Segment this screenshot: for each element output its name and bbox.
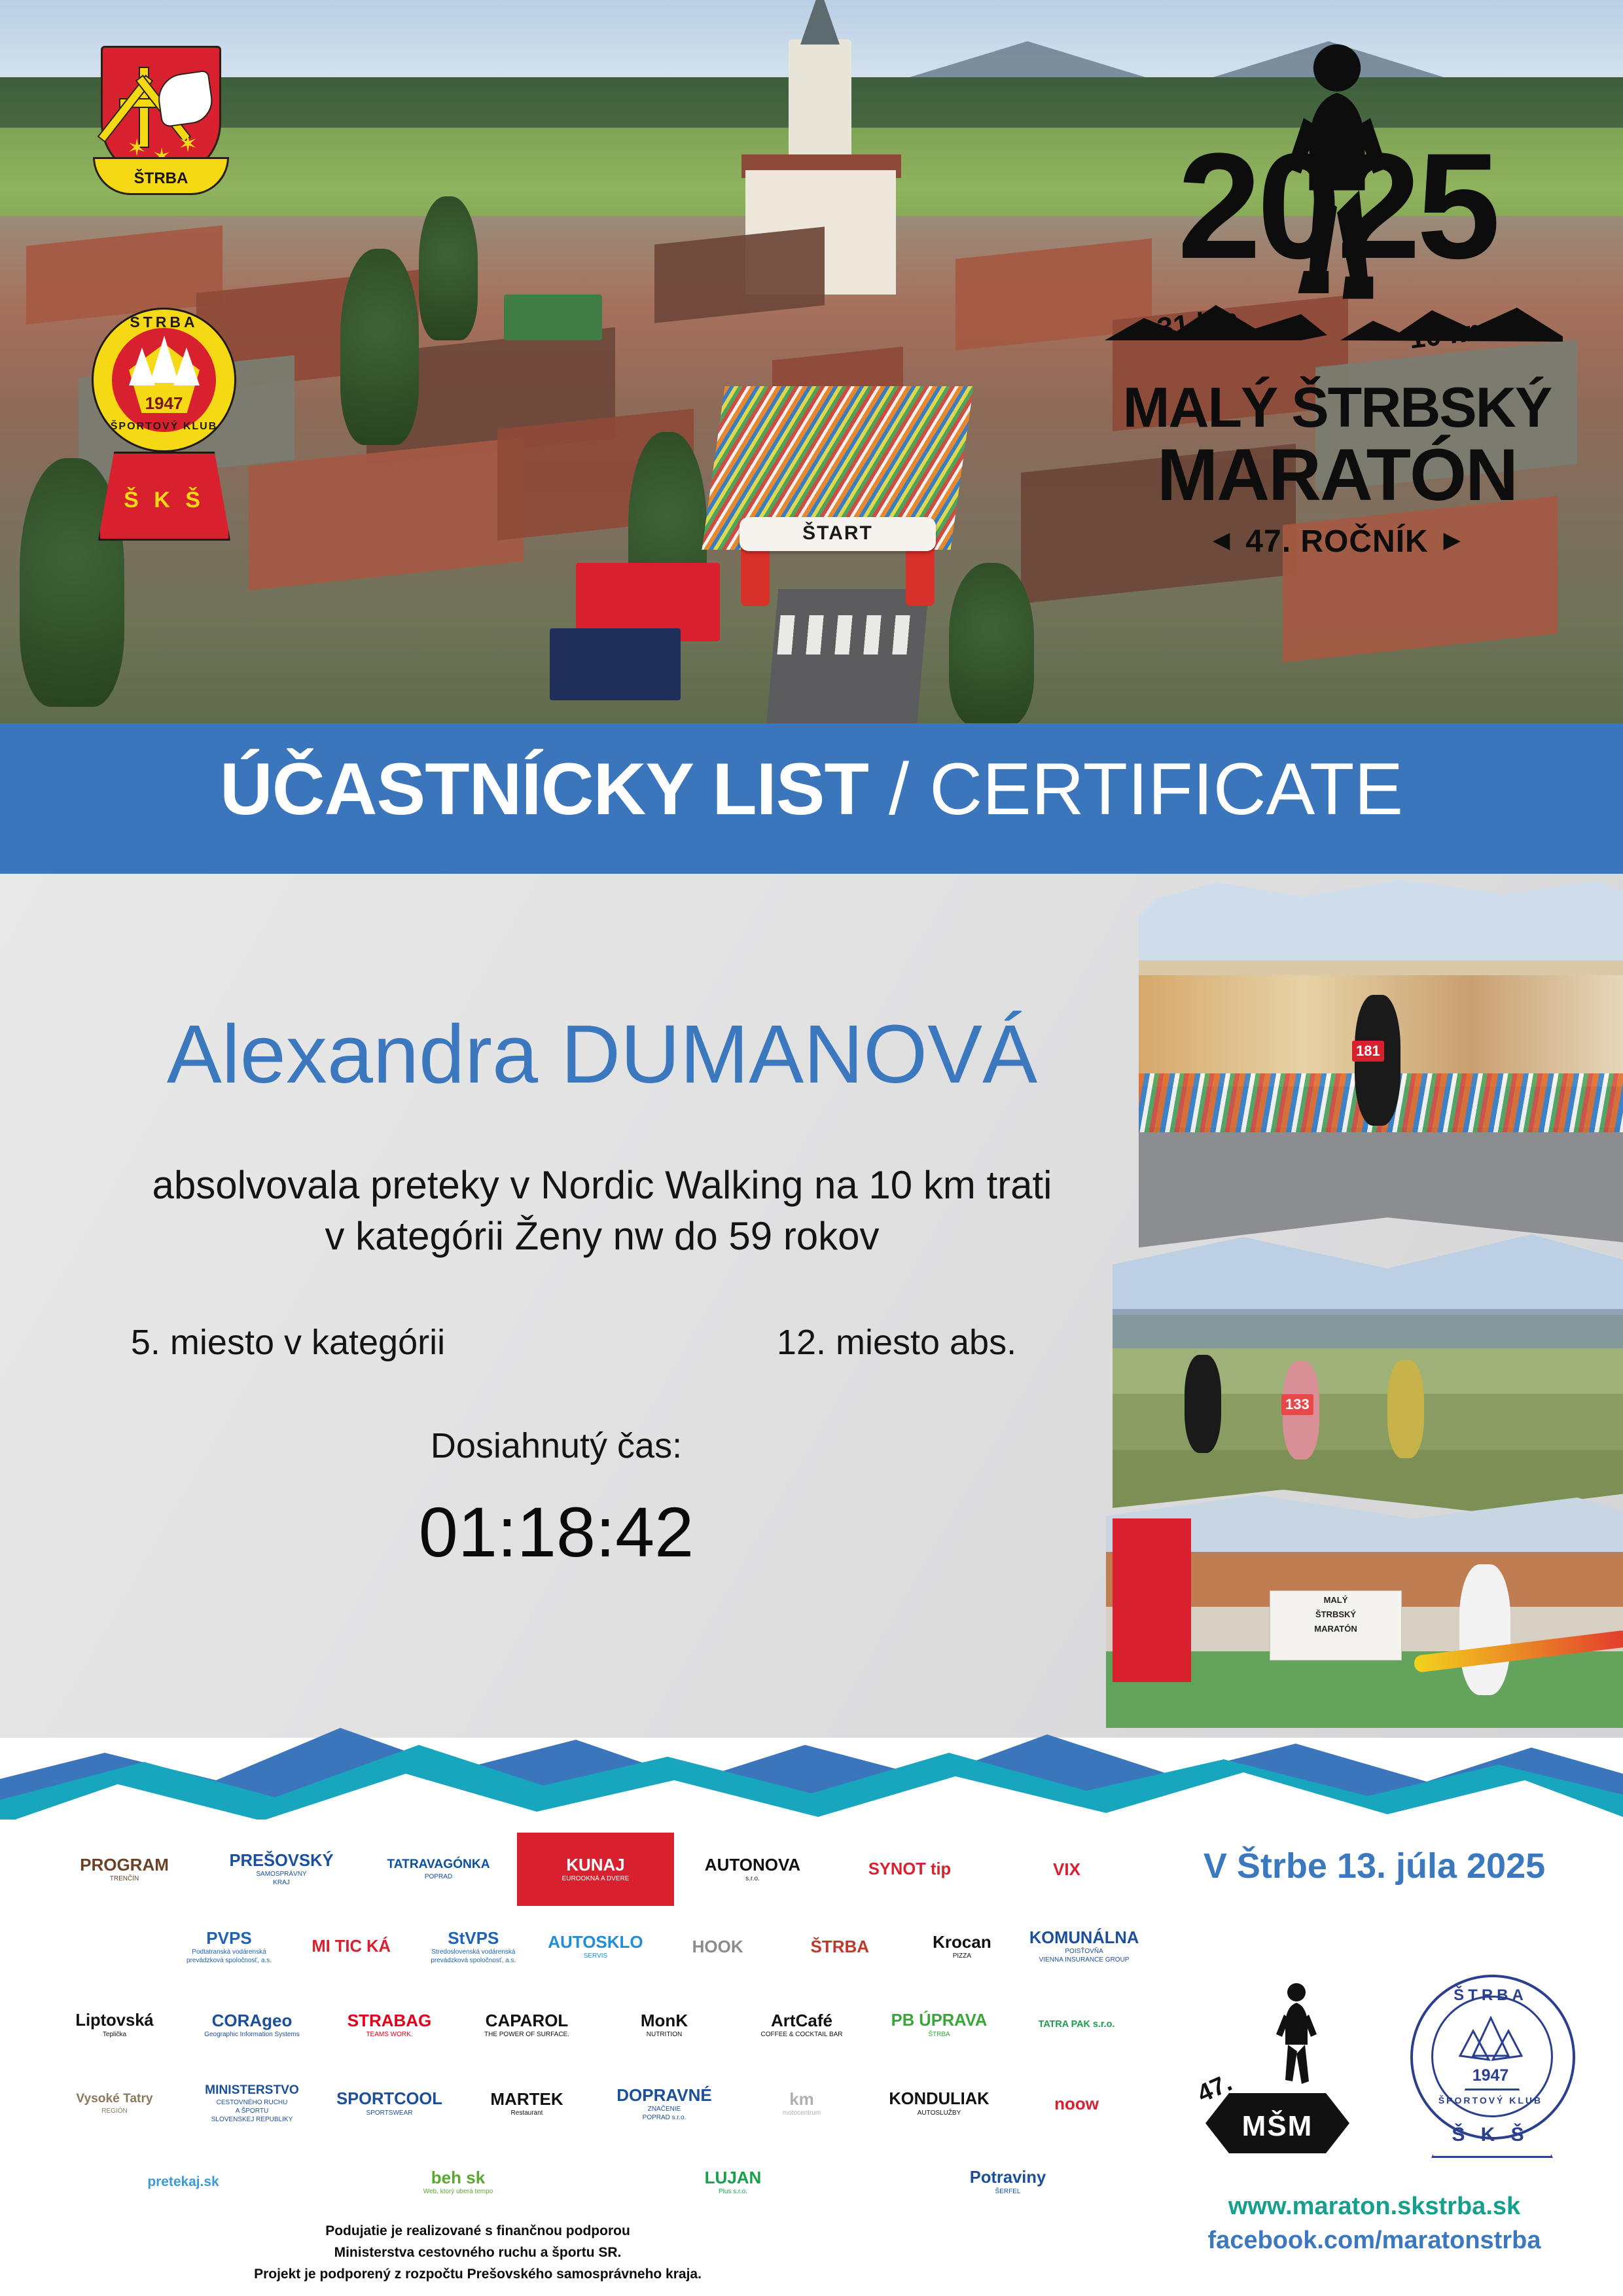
arrow-right-icon: ►	[1438, 524, 1467, 556]
sponsor-logo: AUTONOVAs.r.o.	[674, 1833, 831, 1906]
runner-figure	[1185, 1355, 1221, 1453]
sponsor-logo: PROGRAMTRENČÍN	[46, 1833, 203, 1906]
footer-right-column: V Štrbe 13. júla 2025 47. MŠM	[1158, 1826, 1590, 2284]
sponsor-name: ŠTRBA	[810, 1937, 869, 1956]
coa-ribbon: ŠTRBA	[93, 157, 229, 195]
inflatable-arch-leg	[1113, 1518, 1191, 1682]
start-arch: ŠTART	[740, 517, 936, 602]
sponsor-name: ArtCaféCOFFEE & COCKTAIL BAR	[760, 2011, 842, 2039]
race-bib: 181	[1352, 1041, 1384, 1062]
sponsor-logo: PREŠOVSKÝSAMOSPRÁVNYKRAJ	[203, 1833, 360, 1906]
sponsor-logo: kmmotocentrum	[733, 2067, 870, 2140]
photo-hill-runners: 133	[1113, 1230, 1623, 1512]
sponsor-name: MI TIC KÁ	[312, 1937, 391, 1956]
stamp-abbrev: Š K Š	[1397, 2124, 1584, 2146]
stamp-top-label: ŠTRBA	[1397, 1986, 1584, 2005]
edition-label: 47. ROČNÍK	[1245, 524, 1428, 559]
sponsor-logo: MonKNUTRITION	[596, 1988, 733, 2062]
sponsor-row: pretekaj.skbeh skWeb, ktorý uberá tempoL…	[46, 2145, 1145, 2219]
crosswalk	[777, 615, 918, 655]
mountain-peak-icon	[1455, 2015, 1527, 2072]
banner-separator: /	[868, 748, 929, 830]
participant-name: Alexandra DUMANOVÁ	[59, 1007, 1145, 1102]
race-title-line1: MALÝ ŠTRBSKÝ	[1085, 380, 1589, 436]
runner-figure	[1459, 1564, 1510, 1695]
stamp-year: 1947	[1397, 2066, 1584, 2085]
sponsor-logo: KONDULIAKAUTOSLUŽBY	[870, 2067, 1008, 2140]
footer: PROGRAMTRENČÍNPREŠOVSKÝSAMOSPRÁVNYKRAJTA…	[0, 1820, 1623, 2296]
sponsor-name: VIX	[1053, 1860, 1080, 1879]
start-arch-label: ŠTART	[740, 522, 936, 545]
sponsor-name: Vysoké TatryREGIÓN	[76, 2092, 152, 2115]
website-link[interactable]: www.maraton.skstrba.sk	[1158, 2193, 1590, 2221]
facebook-link[interactable]: facebook.com/maratonstrba	[1158, 2227, 1590, 2255]
emblem-year: 1947	[94, 393, 234, 414]
sks-stamp: ŠTRBA 1947 ŠPORTOVÝ KLUB Š K Š	[1397, 1967, 1584, 2163]
race-road	[766, 589, 929, 723]
race-year: 2025	[1085, 144, 1589, 268]
church-spire	[800, 0, 840, 45]
sponsor-logo: MINISTERSTVOCESTOVNÉHO RUCHUA ŠPORTUSLOV…	[183, 2067, 321, 2140]
sponsor-name: DOPRAVNÉZNAČENIEPOPRAD s.r.o.	[616, 2086, 711, 2122]
sponsor-name: StVPSStredoslovenská vodárenskáprevádzko…	[431, 1929, 516, 1965]
finish-tape	[1414, 1630, 1623, 1673]
tree	[419, 196, 478, 340]
sponsor-name: MonKNUTRITION	[641, 2011, 688, 2039]
banner-title-sk: ÚČASTNÍCKY LIST	[220, 748, 868, 830]
sponsor-name: beh skWeb, ktorý uberá tempo	[423, 2168, 493, 2196]
sponsor-name: PROGRAMTRENČÍN	[80, 1856, 169, 1883]
sponsor-logo: ArtCaféCOFFEE & COCKTAIL BAR	[733, 1988, 870, 2062]
sponsor-name: PVPSPodtatranská vodárenskáprevádzková s…	[187, 1929, 272, 1965]
race-title-line2: MARATÓN	[1085, 439, 1589, 512]
green-tent	[504, 295, 602, 340]
sponsor-logo: KOMUNÁLNAPOISŤOVŇAVIENNA INSURANCE GROUP	[1023, 1910, 1145, 1983]
emblem-bottom-label: ŠPORTOVÝ KLUB	[94, 421, 234, 433]
photo-collage: 181 133 MALÝ ŠTRBSKÝ MARATÓN	[1106, 877, 1623, 1728]
msm-abbrev: MŠM	[1205, 2110, 1349, 2143]
board-line-1: MALÝ	[1270, 1591, 1401, 1605]
sponsor-logo: pretekaj.sk	[46, 2145, 321, 2219]
msm-logo: 47. MŠM	[1198, 1977, 1361, 2160]
sponsor-logo: Vysoké TatryREGIÓN	[46, 2067, 183, 2140]
sponsor-name: SYNOT tip	[868, 1860, 951, 1879]
support-line-2: Ministerstva cestovného ruchu a športu S…	[52, 2242, 903, 2263]
certificate-description: absolvovala preteky v Nordic Walking na …	[59, 1160, 1145, 1262]
sponsor-logo: AUTOSKLOSERVIS	[535, 1910, 657, 1983]
arch-leg	[741, 543, 770, 606]
road-surface	[1139, 1132, 1623, 1257]
event-date: V Štrbe 13. júla 2025	[1158, 1846, 1590, 1886]
banner-title-en: CERTIFICATE	[929, 748, 1403, 830]
description-line-2: v kategórii Ženy nw do 59 rokov	[59, 1211, 1145, 1262]
sks-abbrev: Š K Š	[100, 488, 228, 513]
sponsor-name: MARTEKRestaurant	[490, 2090, 563, 2117]
event-banner-board: MALÝ ŠTRBSKÝ MARATÓN	[1270, 1590, 1402, 1660]
description-line-1: absolvovala preteky v Nordic Walking na …	[59, 1160, 1145, 1211]
sponsor-logo: CORAgeoGeographic Information Systems	[183, 1988, 321, 2062]
sponsor-logo: KUNAJEUROOKNÁ A DVERE	[517, 1833, 674, 1906]
finish-time-value: 01:18:42	[59, 1491, 1054, 1573]
strba-coat-of-arms: ✶ ✶ ✶ ŠTRBA	[97, 41, 221, 196]
place-absolute: 12. miesto abs.	[687, 1322, 1106, 1363]
sponsor-row: LiptovskáTepličkaCORAgeoGeographic Infor…	[46, 1988, 1145, 2062]
sponsor-logo: LiptovskáTeplička	[46, 1988, 183, 2062]
header-photo: ŠTART ✶ ✶ ✶ ŠTRBA ŠTRBA 1947 ŠPORTOVÝ KL…	[0, 0, 1623, 723]
sponsor-logo: KrocanPIZZA	[901, 1910, 1024, 1983]
sponsor-name: KONDULIAKAUTOSLUŽBY	[889, 2090, 989, 2117]
runner-silhouette-icon	[1275, 1982, 1318, 2106]
sponsor-logo: STRABAGTEAMS WORK.	[321, 1988, 458, 2062]
sponsor-logo-grid: PROGRAMTRENČÍNPREŠOVSKÝSAMOSPRÁVNYKRAJTA…	[46, 1833, 1145, 2212]
blue-tent	[550, 628, 681, 700]
sponsor-row: PROGRAMTRENČÍNPREŠOVSKÝSAMOSPRÁVNYKRAJTA…	[46, 1833, 1145, 1906]
sponsor-name: LiptovskáTeplička	[75, 2011, 153, 2039]
sponsor-logo: MI TIC KÁ	[290, 1910, 412, 1983]
place-in-category: 5. miesto v kategórii	[79, 1322, 497, 1363]
sponsor-logo: TATRA PAK s.r.o.	[1008, 1988, 1145, 2062]
board-line-2: ŠTRBSKÝ	[1270, 1605, 1401, 1620]
msm-diamond: MŠM	[1205, 2093, 1349, 2153]
sponsor-logo: CAPAROLTHE POWER OF SURFACE.	[458, 1988, 596, 2062]
sponsor-name: HOOK	[692, 1937, 743, 1956]
mountain-divider	[0, 1702, 1623, 1833]
sponsor-name: TATRA PAK s.r.o.	[1039, 2019, 1115, 2030]
race-bib: 133	[1281, 1394, 1313, 1415]
emblem-top-label: ŠTRBA	[94, 314, 234, 331]
sponsor-logo	[46, 1910, 168, 1983]
sponsor-name: MINISTERSTVOCESTOVNÉHO RUCHUA ŠPORTUSLOV…	[205, 2083, 299, 2123]
sponsor-name: AUTONOVAs.r.o.	[705, 1856, 800, 1883]
banner-title: ÚČASTNÍCKY LIST / CERTIFICATE	[0, 747, 1623, 831]
coa-label: ŠTRBA	[95, 170, 227, 188]
photo-finish-male-runner: MALÝ ŠTRBSKÝ MARATÓN	[1106, 1492, 1623, 1728]
sponsor-logo: PVPSPodtatranská vodárenskáprevádzková s…	[168, 1910, 291, 1983]
sponsor-logo: SPORTCOOLSPORTSWEAR	[321, 2067, 458, 2140]
sks-club-emblem: ŠTRBA 1947 ŠPORTOVÝ KLUB	[92, 308, 236, 452]
sponsor-name: KOMUNÁLNAPOISŤOVŇAVIENNA INSURANCE GROUP	[1029, 1929, 1139, 1965]
sponsor-logo: PotravinyŠERFEL	[870, 2145, 1145, 2219]
support-line-1: Podujatie je realizované s finančnou pod…	[52, 2220, 903, 2242]
sponsor-logo: ŠTRBA	[779, 1910, 901, 1983]
sponsor-name: STRABAGTEAMS WORK.	[348, 2011, 432, 2039]
sponsor-logo: TATRAVAGÓNKAPOPRAD	[360, 1833, 517, 1906]
sponsor-name: noow	[1054, 2094, 1099, 2113]
sponsor-logo: PB ÚPRAVAŠTRBA	[870, 1988, 1008, 2062]
sponsor-logo: DOPRAVNÉZNAČENIEPOPRAD s.r.o.	[596, 2067, 733, 2140]
tree	[949, 563, 1034, 723]
sponsor-name: LUJANPlus s.r.o.	[705, 2168, 762, 2196]
sponsor-name: PREŠOVSKÝSAMOSPRÁVNYKRAJ	[229, 1852, 333, 1888]
race-logo: 2025 31 km 10 km MALÝ ŠTRBSKÝ MARATÓN ◄ …	[1085, 39, 1589, 602]
sponsor-logo: StVPSStredoslovenská vodárenskáprevádzko…	[412, 1910, 535, 1983]
sponsor-name: SPORTCOOLSPORTSWEAR	[336, 2090, 442, 2117]
sponsor-name: KUNAJEUROOKNÁ A DVERE	[562, 1856, 630, 1883]
finish-time-label: Dosiahnutý čas:	[59, 1426, 1054, 1466]
board-line-3: MARATÓN	[1270, 1620, 1401, 1634]
sponsor-name: PotravinyŠERFEL	[970, 2168, 1046, 2196]
church	[789, 39, 851, 255]
sponsor-row: PVPSPodtatranská vodárenskáprevádzková s…	[46, 1910, 1145, 1983]
sponsor-logo: VIX	[988, 1833, 1145, 1906]
sponsor-name: kmmotocentrum	[783, 2090, 821, 2117]
sponsor-logo: HOOK	[656, 1910, 779, 1983]
tree	[340, 249, 419, 445]
sponsor-logo: SYNOT tip	[831, 1833, 988, 1906]
sponsor-name: CORAgeoGeographic Information Systems	[204, 2011, 300, 2039]
sponsor-name: KrocanPIZZA	[933, 1933, 991, 1960]
arch-leg	[906, 543, 935, 606]
support-statement: Podujatie je realizované s finančnou pod…	[52, 2220, 903, 2285]
sponsor-name: PB ÚPRAVAŠTRBA	[891, 2011, 988, 2039]
sponsor-row: Vysoké TatryREGIÓNMINISTERSTVOCESTOVNÉHO…	[46, 2067, 1145, 2140]
sponsor-logo: beh skWeb, ktorý uberá tempo	[321, 2145, 596, 2219]
sponsor-logo: LUJANPlus s.r.o.	[596, 2145, 870, 2219]
sponsor-name: TATRAVAGÓNKAPOPRAD	[387, 1857, 490, 1880]
stamp-bottom-label: ŠPORTOVÝ KLUB	[1397, 2095, 1584, 2106]
sks-abbrev-banner: Š K Š	[98, 452, 230, 541]
sponsor-name: pretekaj.sk	[147, 2174, 219, 2190]
runner-figure	[1387, 1360, 1424, 1458]
arrow-left-icon: ◄	[1207, 524, 1236, 556]
race-edition: ◄ 47. ROČNÍK ►	[1085, 524, 1589, 560]
support-line-3: Projekt je podporený z rozpočtu Prešovsk…	[52, 2263, 903, 2285]
sponsor-name: CAPAROLTHE POWER OF SURFACE.	[484, 2011, 569, 2039]
photo-finish-female-runner: 181	[1139, 877, 1623, 1257]
distant-mountains	[1113, 1309, 1623, 1348]
sponsor-logo: noow	[1008, 2067, 1145, 2140]
sponsor-name: AUTOSKLOSERVIS	[548, 1933, 643, 1960]
sponsor-logo: MARTEKRestaurant	[458, 2067, 596, 2140]
